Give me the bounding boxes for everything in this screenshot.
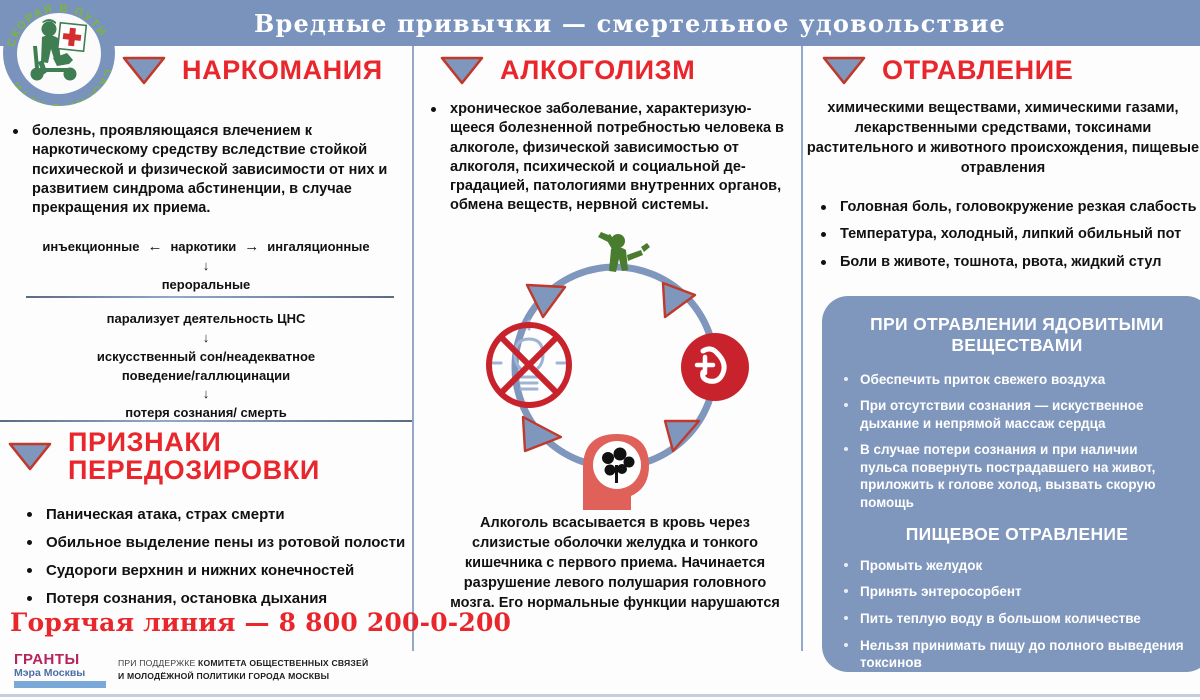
list-item: Обильное выделение пены из ротовой полос…	[24, 533, 414, 553]
no-lightbulb-icon	[489, 321, 569, 405]
list-item: Судороги верхнин и нижних конечностей	[24, 561, 414, 581]
flow-label-center: наркотики	[170, 239, 236, 254]
chain-arrow-1-icon: ↓	[10, 329, 402, 348]
support-prefix: ПРИ ПОДДЕРЖКЕ	[118, 658, 195, 668]
scooter-rider-icon	[23, 18, 95, 84]
section-heading-alkogolizm: АЛКОГОЛИЗМ	[440, 55, 695, 85]
page-title: Вредные привычки — смертельное удовольст…	[180, 0, 1080, 46]
logo-skoraya-v-puti: СКОРАЯ В ПУТИ СКОРАЯ В ПУТИ	[3, 0, 115, 106]
list-item: Головная боль, головокружение резкая сла…	[818, 198, 1200, 217]
footer-rule	[0, 694, 1200, 697]
cns-chain-flow: парализует деятельность ЦНС ↓ искусствен…	[10, 310, 402, 423]
support-line-2: И МОЛОДЁЖНОЙ ПОЛИТИКИ ГОРОДА МОСКВЫ	[118, 671, 329, 681]
chain-step-1: парализует деятельность ЦНС	[10, 310, 402, 329]
flow-label-down: пероральные	[10, 276, 402, 295]
triangle-marker-icon	[122, 55, 166, 85]
chain-arrow-2-icon: ↓	[10, 385, 402, 404]
section-heading-narkomaniya: НАРКОМАНИЯ	[122, 55, 383, 85]
section-title-text: ПРИЗНАКИ ПЕРЕДОЗИРОВКИ	[68, 428, 320, 485]
poisoning-intro-text: химическими веществами, химическими газа…	[806, 98, 1200, 178]
panel-food-items: Промыть желудок Принять энтеросорбент Пи…	[822, 557, 1200, 672]
list-item: Промыть желудок	[840, 557, 1190, 575]
panel-toxic-items: Обеспечить приток свежего воздуха При от…	[822, 371, 1200, 512]
poster-root: Вредные привычки — смертельное удовольст…	[0, 0, 1200, 700]
list-item: Пить теплую воду в большом количестве	[840, 610, 1190, 628]
list-item: Паническая атака, страх смерти	[24, 505, 414, 525]
poisoning-symptom-bullets: Головная боль, головокружение резкая сла…	[818, 198, 1200, 280]
triangle-marker-icon	[440, 55, 484, 85]
list-item: болезнь, проявляющаяся влечением к нарко…	[10, 122, 402, 218]
flow-label-left: инъекционные	[42, 239, 139, 254]
support-line-1: КОМИТЕТА ОБЩЕСТВЕННЫХ СВЯЗЕЙ	[198, 658, 368, 668]
alcohol-cycle-diagram	[465, 225, 765, 510]
grants-logo: ГРАНТЫ Мэра Москвы	[14, 652, 106, 688]
poisoning-first-aid-panel: ПРИ ОТРАВЛЕНИИ ЯДОВИТЫМИ ВЕЩЕСТВАМИ Обес…	[822, 296, 1200, 672]
cycle-arrow-top-right-icon	[663, 283, 695, 317]
list-item: Температура, холодный, липкий обильный п…	[818, 225, 1200, 244]
support-credit: ПРИ ПОДДЕРЖКЕ КОМИТЕТА ОБЩЕСТВЕННЫХ СВЯЗ…	[118, 657, 418, 683]
list-item: Боли в животе, тошнота, рвота, жидкий ст…	[818, 253, 1200, 272]
list-item: Потеря сознания, остановка дыхания	[24, 589, 414, 609]
flow-arrow-left-icon: ←	[147, 238, 162, 255]
section-title-text: НАРКОМАНИЯ	[182, 56, 383, 84]
narkomaniya-bullets: болезнь, проявляющаяся влечением к нарко…	[10, 122, 402, 222]
section-heading-otravlenie: ОТРАВЛЕНИЕ	[822, 55, 1073, 85]
triangle-marker-icon	[8, 441, 52, 471]
flow-row-top: инъекционные ← наркотики → ингаляционные	[10, 238, 402, 255]
overdose-bullets: Паническая атака, страх смерти Обильное …	[24, 505, 414, 617]
triangle-marker-icon	[822, 55, 866, 85]
panel-title-food: ПИЩЕВОЕ ОТРАВЛЕНИЕ	[822, 524, 1200, 545]
list-item: Нельзя принимать пищу до полного выведен…	[840, 637, 1190, 672]
alcohol-absorption-text: Алкоголь всасывается в кровь через слизи…	[440, 513, 790, 613]
drug-types-flow: инъекционные ← наркотики → ингаляционные…	[10, 238, 402, 295]
list-item: Принять энтеросорбент	[840, 583, 1190, 601]
list-item: хроническое заболевание, характеризую­ще…	[428, 100, 790, 216]
flow-arrow-right-icon: →	[244, 238, 259, 255]
hotline-text: Горячая линия — 8 800 200-0-200	[10, 608, 511, 637]
chain-step-2: искусственный сон/неадекватное поведение…	[10, 348, 402, 386]
section-title-text: АЛКОГОЛИЗМ	[500, 56, 695, 84]
section-divider-top	[26, 296, 394, 298]
section-title-text: ОТРАВЛЕНИЕ	[882, 56, 1073, 84]
list-item: При отсутствии сознания — искуственное д…	[840, 397, 1186, 432]
list-item: В случае потери сознания и при наличии п…	[840, 441, 1186, 511]
section-heading-priznaki: ПРИЗНАКИ ПЕРЕДОЗИРОВКИ	[8, 428, 320, 485]
section-divider-bottom	[0, 420, 412, 422]
brain-head-icon	[583, 434, 649, 510]
list-item: Обеспечить приток свежего воздуха	[840, 371, 1186, 389]
panel-title-toxic: ПРИ ОТРАВЛЕНИИ ЯДОВИТЫМИ ВЕЩЕСТВАМИ	[822, 296, 1200, 357]
alkogolizm-bullets: хроническое заболевание, характеризую­ще…	[428, 100, 790, 220]
grants-subtitle: Мэра Москвы	[14, 668, 106, 679]
grants-title: ГРАНТЫ	[14, 652, 106, 667]
stomach-icon	[681, 333, 749, 401]
flow-arrow-down-icon: ↓	[10, 257, 402, 276]
column-divider-2	[801, 46, 803, 651]
flow-label-right: ингаляционные	[267, 239, 369, 254]
grants-bar	[14, 681, 106, 688]
